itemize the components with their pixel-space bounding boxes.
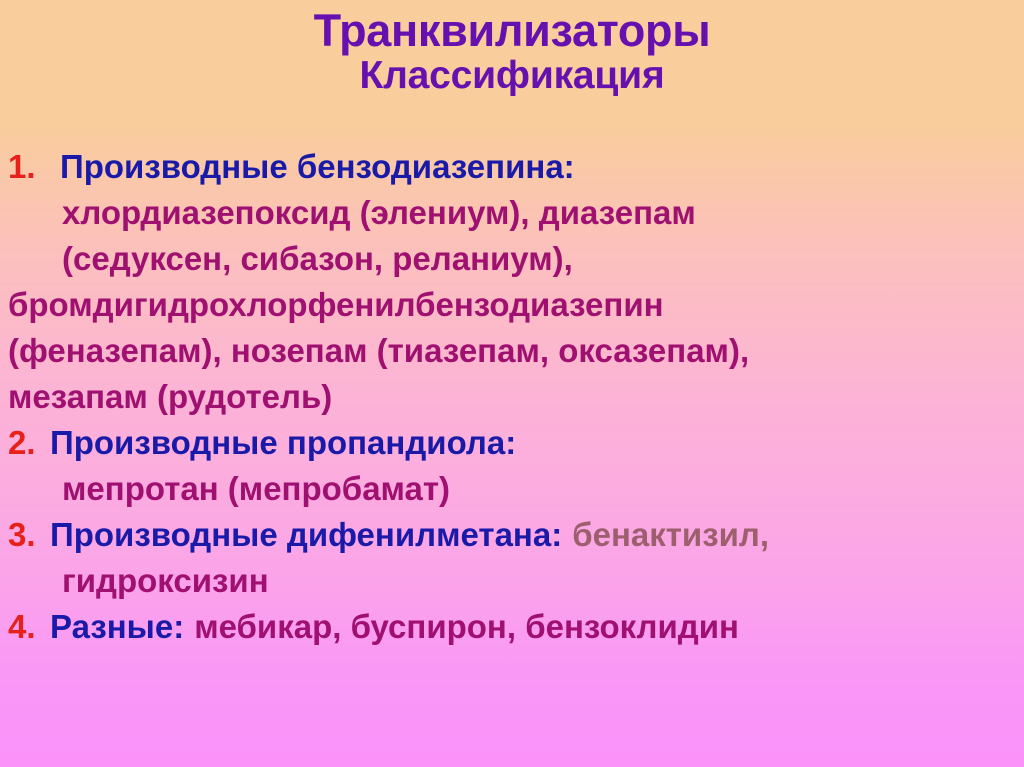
list-heading-4: Разные: xyxy=(50,608,184,645)
list-number-2: 2. xyxy=(8,420,50,466)
drug-names: (феназепам), нозепам (тиазепам, оксазепа… xyxy=(8,332,749,369)
drug-names: мепротан (мепробамат) xyxy=(62,470,450,507)
list-item-1-drugs-line-3: бромдигидрохлорфенилбензодиазепин xyxy=(0,282,1024,328)
list-item-1-drugs-line-2: (седуксен, сибазон, реланиум), xyxy=(0,236,1024,282)
drug-names: мебикар, буспирон, бензоклидин xyxy=(194,608,739,645)
drug-names: гидроксизин xyxy=(62,562,269,599)
slide-title-line-1: Транквилизаторы xyxy=(0,8,1024,54)
list-item-2-drugs-line-1: мепротан (мепробамат) xyxy=(0,466,1024,512)
drug-names: хлордиазепоксид (элениум), диазепам xyxy=(62,194,696,231)
list-item-4: 4.Разные:мебикар, буспирон, бензоклидин xyxy=(0,604,1024,650)
list-heading-3: Производные дифенилметана: xyxy=(50,516,562,553)
drug-names: (седуксен, сибазон, реланиум), xyxy=(62,240,573,277)
list-item-1-drugs-line-4: (феназепам), нозепам (тиазепам, оксазепа… xyxy=(0,328,1024,374)
list-number-1: 1. xyxy=(8,144,60,190)
drug-name-benactizil: бенактизил, xyxy=(572,516,769,553)
list-item-1-drugs-line-5: мезапам (рудотель) xyxy=(0,374,1024,420)
classification-list: 1.Производные бензодиазепина: хлордиазеп… xyxy=(0,144,1024,650)
drug-names: мезапам (рудотель) xyxy=(8,378,332,415)
list-item-3: 3.Производные дифенилметана:бенактизил, xyxy=(0,512,1024,558)
list-item-2: 2.Производные пропандиола: xyxy=(0,420,1024,466)
presentation-slide: Транквилизаторы Классификация 1.Производ… xyxy=(0,0,1024,767)
list-heading-1: Производные бензодиазепина: xyxy=(60,148,575,185)
list-number-3: 3. xyxy=(8,512,50,558)
list-number-4: 4. xyxy=(8,604,50,650)
list-item-1-drugs-line-1: хлордиазепоксид (элениум), диазепам xyxy=(0,190,1024,236)
list-item-1: 1.Производные бензодиазепина: xyxy=(0,144,1024,190)
drug-names: бромдигидрохлорфенилбензодиазепин xyxy=(8,286,664,323)
list-heading-2: Производные пропандиола: xyxy=(50,424,516,461)
list-item-3-drugs-line-1: гидроксизин xyxy=(0,558,1024,604)
slide-title: Транквилизаторы Классификация xyxy=(0,8,1024,98)
slide-title-line-2: Классификация xyxy=(0,54,1024,98)
